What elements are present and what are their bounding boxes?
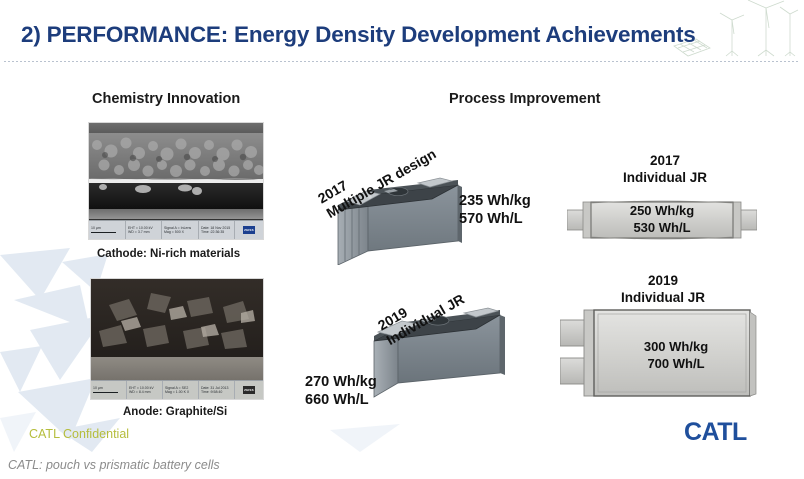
zeiss-logo-icon: ZEISS: [243, 386, 255, 394]
density-pouch-2017: 250 Wh/kg 530 Wh/L: [592, 202, 732, 236]
density-pouch-2017-volumetric: 530 Wh/L: [592, 219, 732, 236]
databar-datetime-anode: Date: 31 Jul 2013 Time :9:58:40: [199, 381, 235, 399]
page-title: 2) PERFORMANCE: Energy Density Developme…: [21, 22, 696, 48]
zeiss-logo-icon: ZEISS: [243, 226, 255, 234]
density-prismatic-2019: 270 Wh/kg 660 Wh/L: [305, 373, 377, 409]
section-heading-chemistry: Chemistry Innovation: [92, 91, 240, 107]
density-pouch-2017-gravimetric: 250 Wh/kg: [592, 202, 732, 219]
confidential-label: CATL Confidential: [29, 427, 129, 441]
sem-image-anode: 10 µm EHT = 10.00 kV WD = 8.4 mm Signal …: [90, 278, 264, 400]
density-prismatic-2017-volumetric: 570 Wh/L: [459, 210, 531, 228]
density-prismatic-2019-volumetric: 660 Wh/L: [305, 391, 377, 409]
databar-scale-anode: 10 µm: [91, 381, 127, 399]
databar-signal-anode: Signal A = SE2 Mag = 1.00 K X: [163, 381, 199, 399]
databar-beam-anode: EHT = 10.00 kV WD = 8.4 mm: [127, 381, 163, 399]
databar-scale-cathode: 10 µm: [89, 221, 126, 239]
label-pouch-2017-year: 2017: [575, 152, 755, 169]
title-divider: [4, 61, 800, 62]
databar-beam-cathode: EHT = 10.00 kV WD = 3.7 mm: [126, 221, 163, 239]
caption-anode: Anode: Graphite/Si: [123, 406, 227, 418]
density-pouch-2019-volumetric: 700 Wh/L: [606, 355, 746, 372]
catl-logo: CATL: [684, 418, 776, 446]
density-prismatic-2017: 235 Wh/kg 570 Wh/L: [459, 192, 531, 228]
label-pouch-2017-design: Individual JR: [575, 169, 755, 186]
label-pouch-2019-year: 2019: [573, 272, 753, 289]
label-pouch-2019: 2019 Individual JR: [573, 272, 753, 306]
sem-databar-anode: 10 µm EHT = 10.00 kV WD = 8.4 mm Signal …: [91, 380, 263, 399]
density-pouch-2019-gravimetric: 300 Wh/kg: [606, 338, 746, 355]
svg-text:CATL: CATL: [684, 418, 747, 446]
sem-databar-cathode: 10 µm EHT = 10.00 kV WD = 3.7 mm Signal …: [89, 220, 263, 239]
sem-image-cathode: 10 µm EHT = 10.00 kV WD = 3.7 mm Signal …: [88, 122, 264, 240]
caption-cathode: Cathode: Ni-rich materials: [97, 248, 240, 260]
scale-bar-glyph: [93, 392, 118, 393]
section-heading-process: Process Improvement: [449, 91, 601, 107]
scale-bar-glyph: [91, 232, 116, 233]
density-pouch-2019: 300 Wh/kg 700 Wh/L: [606, 338, 746, 372]
label-pouch-2017: 2017 Individual JR: [575, 152, 755, 186]
density-prismatic-2019-gravimetric: 270 Wh/kg: [305, 373, 377, 391]
slide-canvas: 2) PERFORMANCE: Energy Density Developme…: [0, 0, 804, 452]
databar-signal-cathode: Signal A = InLens Mag = 500 X: [162, 221, 199, 239]
label-pouch-2019-design: Individual JR: [573, 289, 753, 306]
density-prismatic-2017-gravimetric: 235 Wh/kg: [459, 192, 531, 210]
databar-datetime-cathode: Date: 18 Nov 2015 Time :22:36:35: [199, 221, 236, 239]
figure-caption: CATL: pouch vs prismatic battery cells: [8, 458, 220, 472]
